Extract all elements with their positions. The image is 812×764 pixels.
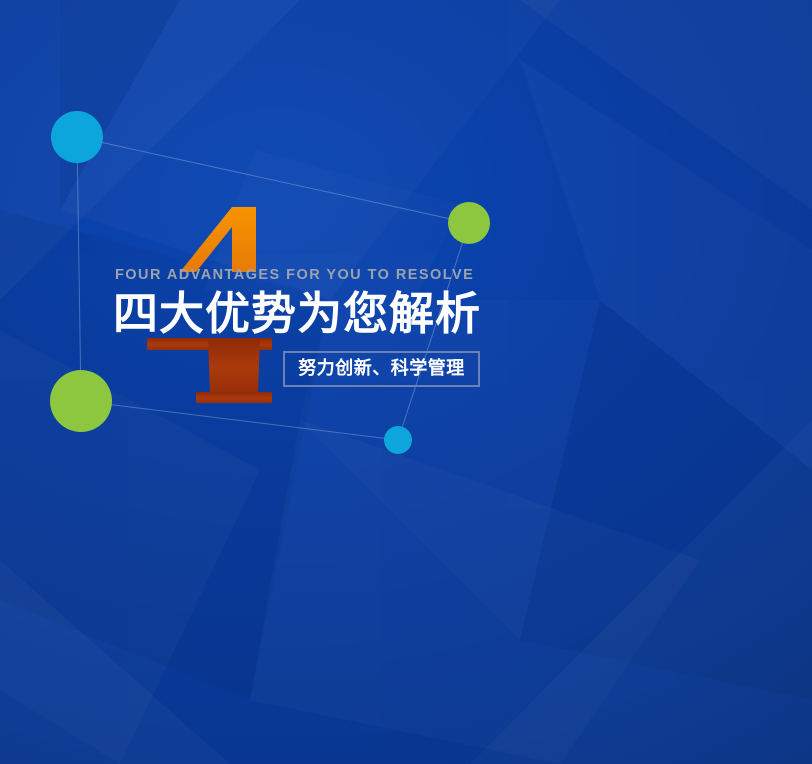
eyebrow-text: FOUR ADVANTAGES FOR YOU TO RESOLVE [115,268,713,283]
tagline-badge[interactable]: 努力创新、科学管理 [283,351,480,387]
promo-banner: FOUR ADVANTAGES FOR YOU TO RESOLVE 四大优势为… [0,0,812,764]
connector-cyan-topleft-to-green-bottomleft [77,137,81,401]
node-green-right [448,202,490,244]
node-cyan-top-left [51,111,103,163]
tagline-text: 努力创新、科学管理 [298,360,465,378]
connector-cyan-topleft-to-green-right [77,137,469,223]
headline-copy-block: FOUR ADVANTAGES FOR YOU TO RESOLVE 四大优势为… [113,268,713,337]
node-cyan-bottom [384,426,412,454]
connector-green-bottomleft-to-cyan-bottom [81,401,398,440]
node-green-bottom-left [50,370,112,432]
page-title: 四大优势为您解析 [113,291,713,338]
